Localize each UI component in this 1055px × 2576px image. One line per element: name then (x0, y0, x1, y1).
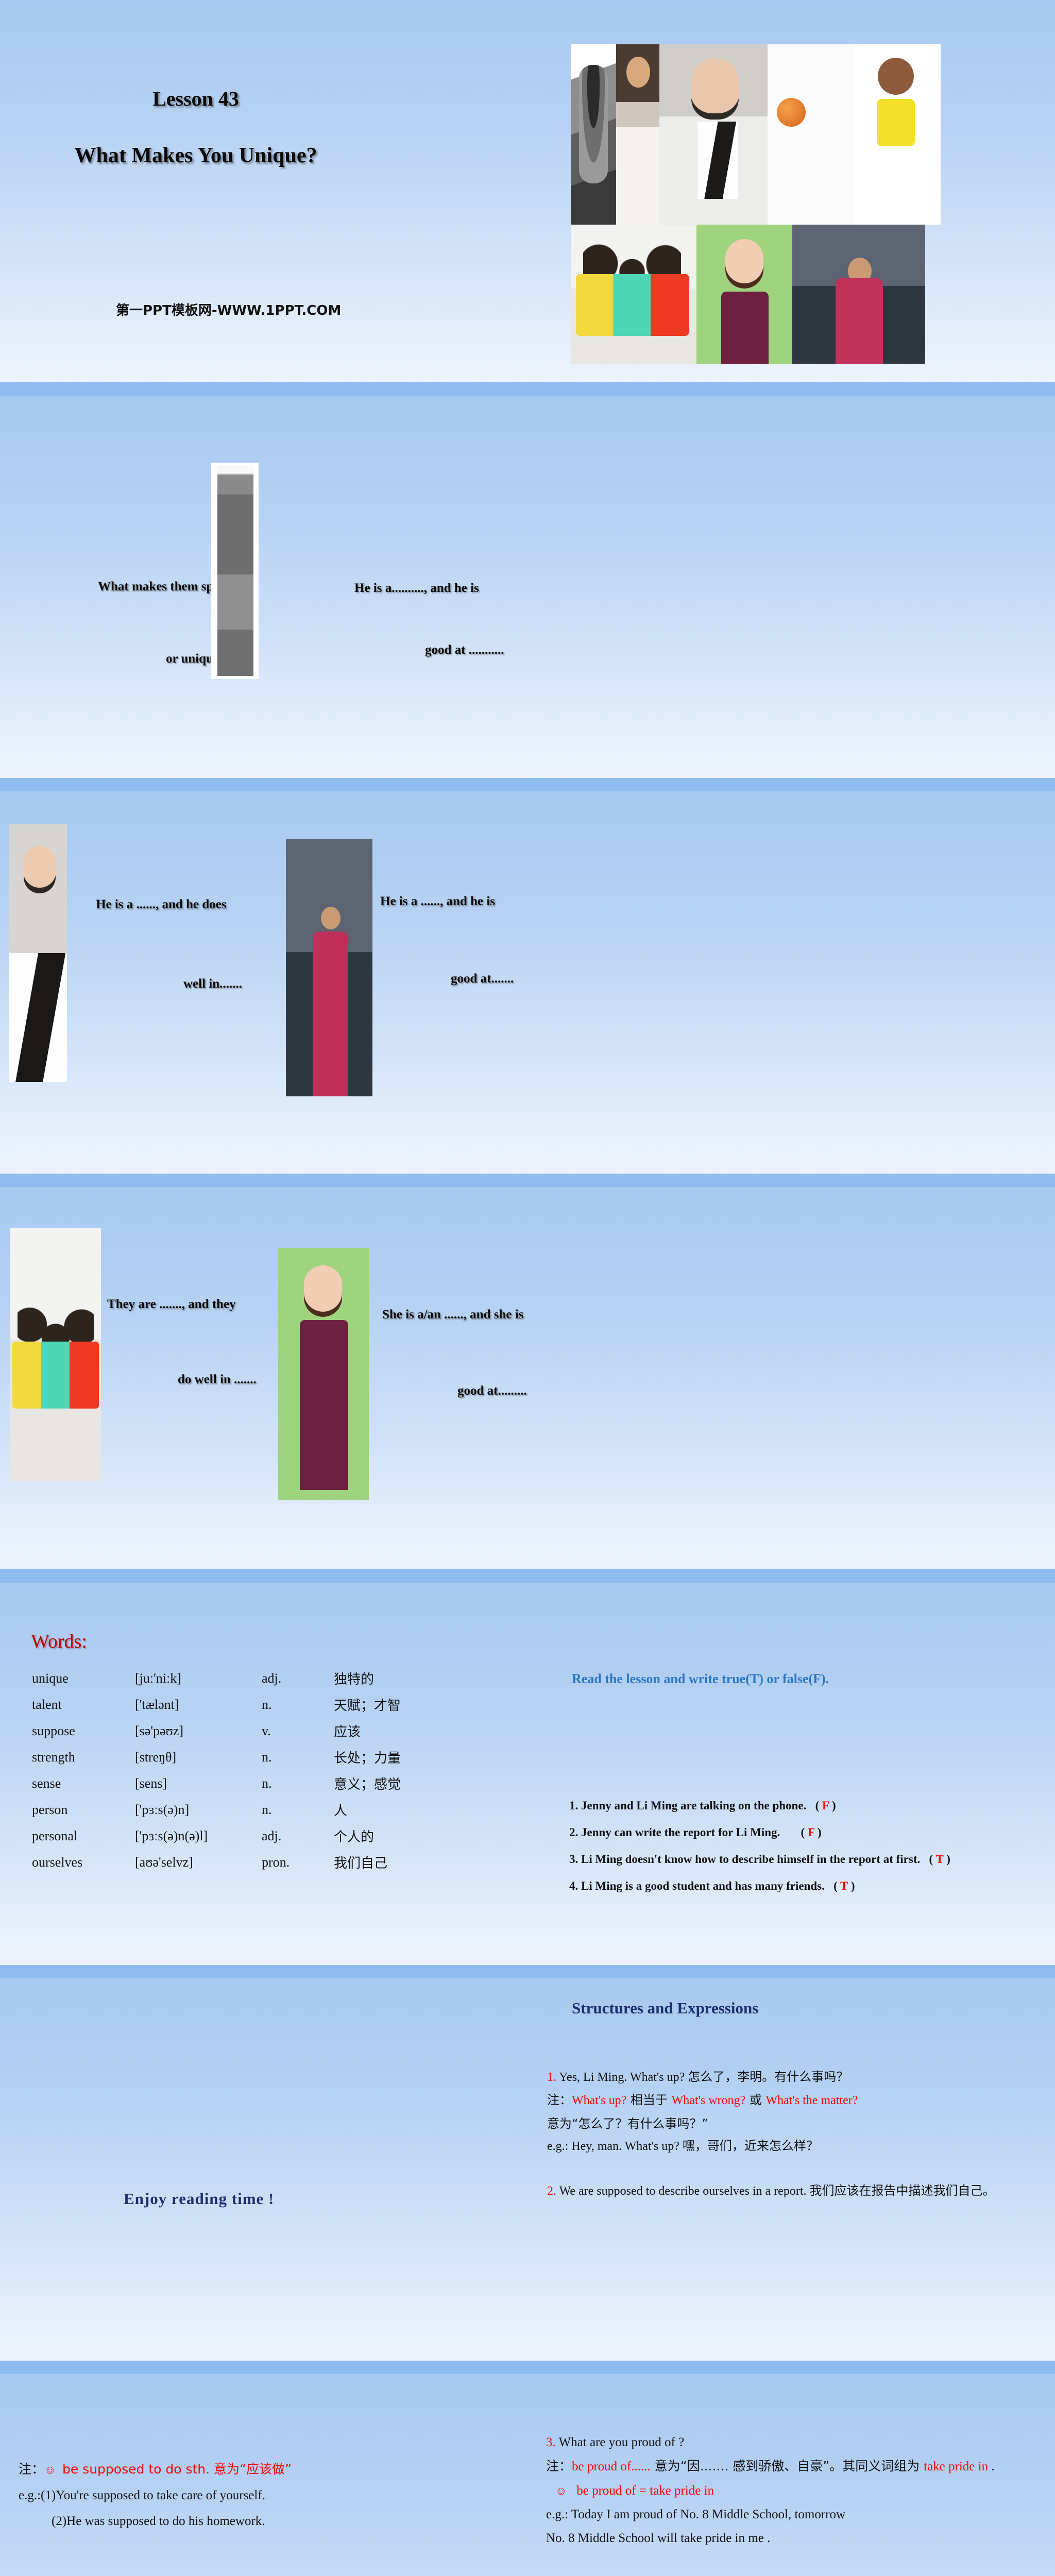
list-item: 3. Li Ming doesn't know how to describe … (569, 1852, 1028, 1867)
structures-heading: Structures and Expressions (572, 1999, 758, 2018)
phonetic-cell: ['pɜːs(ə)n(ə)l] (135, 1823, 262, 1849)
tf-question-text: 4. Li Ming is a good student and has man… (569, 1879, 825, 1892)
tf-question-text: 1. Jenny and Li Ming are talking on the … (569, 1799, 806, 1812)
word-cell: suppose (32, 1718, 135, 1744)
note-phrase-b: What's wrong? (672, 2094, 746, 2107)
celebrity-photo-grid (571, 44, 1028, 364)
smiley-icon: ☺ (44, 2463, 56, 2476)
spacer (547, 2158, 1042, 2180)
tf-question-text: 2. Jenny can write the report for Li Min… (569, 1826, 780, 1839)
item-number: 2. (547, 2184, 556, 2198)
tfboys-photo (571, 225, 696, 364)
note-cn-1: 意为“因....... 感到骄傲、自豪”。其同义词组为 (651, 2459, 924, 2473)
meaning-cell: 长处；力量 (334, 1744, 401, 1770)
be-supposed-to-block: 注：☺ be supposed to do sth. 意为“应该做” e.g.:… (19, 2456, 513, 2534)
pos-cell: adj. (262, 1823, 334, 1849)
example-1: e.g.:(1)You're supposed to take care of … (19, 2483, 513, 2509)
structure-item-1-note: 注：What's up? 相当于 What's wrong? 或 What's … (547, 2089, 1042, 2112)
word-cell: talent (32, 1691, 135, 1718)
example-line-1: e.g.: Today I am proud of No. 8 Middle S… (546, 2503, 1051, 2527)
note-mid-1: 相当于 (626, 2093, 671, 2107)
chinese-actress-photo (696, 225, 792, 364)
item-text: Yes, Li Ming. What's up? 怎么了，李明。有什么事吗？ (559, 2071, 848, 2084)
word-cell: sense (32, 1770, 135, 1797)
table-row: sense [sens] n. 意义；感觉 (32, 1770, 401, 1797)
slide-footer-bar (0, 1569, 1055, 1583)
item-number: 3. (546, 2435, 556, 2449)
vocabulary-table: unique [juː'niːk] adj. 独特的 talent ['tælə… (32, 1665, 401, 1875)
pos-cell: n. (262, 1691, 334, 1718)
yao-ming-photo (768, 44, 853, 225)
list-item: 4. Li Ming is a good student and has man… (569, 1878, 1028, 1894)
cristiano-ronaldo-photo (792, 225, 925, 364)
equivalence-text: be proud of = take pride in (576, 2484, 714, 2498)
note-red-1: be proud of...... (572, 2460, 651, 2473)
meaning-cell: 个人的 (334, 1823, 401, 1849)
table-row: unique [juː'niːk] adj. 独特的 (32, 1665, 401, 1691)
phonetic-cell: [aʊə'selvz] (135, 1849, 262, 1875)
list-item: 1. Jenny and Li Ming are talking on the … (569, 1798, 1028, 1814)
note-red-text: be supposed to do sth. 意为“应该做” (62, 2462, 292, 2477)
word-cell: person (32, 1797, 135, 1823)
question-3: 3. What are you proud of ? (546, 2431, 1051, 2454)
pos-cell: n. (262, 1797, 334, 1823)
pos-cell: pron. (262, 1849, 334, 1875)
phonetic-cell: ['pɜːs(ə)n] (135, 1797, 262, 1823)
slide-words-and-truefalse: Words: unique [juː'niːk] adj. 独特的 talent… (0, 1583, 1055, 1978)
table-row: suppose [sə'pəʊz] v. 应该 (32, 1718, 401, 1744)
pos-cell: adj. (262, 1665, 334, 1691)
slide-footer-bar (0, 2361, 1055, 2374)
cristiano-ronaldo-photo (286, 839, 372, 1096)
phonetic-cell: [sə'pəʊz] (135, 1718, 262, 1744)
note-phrase-c: What's the matter? (765, 2094, 858, 2107)
note-tail: . (988, 2460, 995, 2473)
smiley-icon: ☺ (555, 2484, 567, 2497)
question-3-note: 注：be proud of...... 意为“因....... 感到骄傲、自豪”… (546, 2454, 1051, 2479)
right-caption-line-2: good at....... (451, 971, 514, 987)
pos-cell: n. (262, 1770, 334, 1797)
right-caption-line-1: She is a/an ......, and she is (382, 1307, 523, 1323)
structure-item-2: 2. We are supposed to describe ourselves… (547, 2180, 1042, 2202)
proud-of-block: 3. What are you proud of ? 注：be proud of… (546, 2431, 1051, 2550)
slide-he-is-a-singer-footballer: He is a ......, and he does well in.....… (0, 791, 1055, 1187)
left-caption-line-2: do well in ....... (178, 1371, 257, 1387)
meaning-cell: 我们自己 (334, 1849, 401, 1875)
left-caption-line-2: well in....... (183, 976, 242, 992)
watermark-text: 第一PPT模板网-WWW.1PPT.COM (116, 300, 341, 319)
slide-structures-and-expressions: Enjoy reading time ! Structures and Expr… (0, 1978, 1055, 2374)
left-caption-line-1: They are ......., and they (107, 1296, 236, 1312)
meaning-cell: 独特的 (334, 1665, 401, 1691)
slide-footer-bar (0, 778, 1055, 791)
tf-answer: F (808, 1826, 814, 1839)
slide-footer-bar (0, 382, 1055, 396)
true-false-list: 1. Jenny and Li Ming are talking on the … (569, 1798, 1028, 1905)
note-prefix: 注： (547, 2093, 572, 2107)
note-prefix: 注： (546, 2459, 572, 2473)
page-title: Lesson 43 (72, 87, 319, 111)
right-caption-line-2: good at......... (457, 1383, 527, 1399)
table-row: person ['pɜːs(ə)n] n. 人 (32, 1797, 401, 1823)
equivalence-line: ☺ be proud of = take pride in (546, 2479, 1051, 2503)
word-cell: unique (32, 1665, 135, 1691)
word-cell: personal (32, 1823, 135, 1849)
korean-singer-photo (9, 824, 67, 1082)
item-number: 1. (547, 2071, 556, 2084)
tf-answer: T (840, 1879, 848, 1892)
note-mid-2: 或 (745, 2093, 765, 2107)
note-line: 注：☺ be supposed to do sth. 意为“应该做” (19, 2456, 513, 2483)
photo-row-top (571, 44, 1028, 225)
note-red-2: take pride in (924, 2460, 988, 2473)
structure-item-1-example: e.g.: Hey, man. What's up? 嘿，哥们，近来怎么样？ (547, 2135, 1042, 2158)
note-tail: 意为“怎么了？有什么事吗？” (547, 2112, 1042, 2135)
caption-line-1: He is a.........., and he is (354, 580, 479, 596)
words-heading: Words: (31, 1630, 87, 1653)
slide-footer-bar (0, 1965, 1055, 1978)
structures-body: 1. Yes, Li Ming. What's up? 怎么了，李明。有什么事吗… (547, 2066, 1042, 2202)
list-item: 2. Jenny can write the report for Li Min… (569, 1825, 1028, 1840)
slide-title: Lesson 43 What Makes You Unique? 第一PPT模板… (0, 0, 1055, 396)
example-line-2: No. 8 Middle School will take pride in m… (546, 2527, 1051, 2550)
phonetic-cell: [streŋθ] (135, 1744, 262, 1770)
word-cell: strength (32, 1744, 135, 1770)
item-text: We are supposed to describe ourselves in… (559, 2184, 995, 2198)
caption-line-2: good at ........... (425, 642, 504, 658)
example-2: (2)He was supposed to do his homework. (19, 2509, 513, 2534)
item-text: What are you proud of ? (559, 2435, 685, 2449)
structure-item-1: 1. Yes, Li Ming. What's up? 怎么了，李明。有什么事吗… (547, 2066, 1042, 2089)
table-row: ourselves [aʊə'selvz] pron. 我们自己 (32, 1849, 401, 1875)
phonetic-cell: [juː'niːk] (135, 1665, 262, 1691)
ronaldo-cartoon-photo (853, 44, 941, 225)
true-false-heading: Read the lesson and write true(T) or fal… (572, 1671, 829, 1687)
word-cell: ourselves (32, 1849, 135, 1875)
slide-be-supposed-to-and-proud-of: 注：☺ be supposed to do sth. 意为“应该做” e.g.:… (0, 2374, 1055, 2576)
tfboys-photo (10, 1228, 101, 1481)
table-row: personal ['pɜːs(ə)n(ə)l] adj. 个人的 (32, 1823, 401, 1849)
meaning-cell: 人 (334, 1797, 401, 1823)
note-phrase-a: What's up? (572, 2094, 626, 2107)
meaning-cell: 天赋；才智 (334, 1691, 401, 1718)
michael-jordan-photo (571, 44, 616, 225)
slide-footer-bar (0, 1174, 1055, 1187)
phonetic-cell: [sens] (135, 1770, 262, 1797)
pos-cell: n. (262, 1744, 334, 1770)
page-subtitle: What Makes You Unique? (57, 143, 335, 168)
michael-jordan-photo (211, 463, 259, 679)
table-row: talent ['tælənt] n. 天赋；才智 (32, 1691, 401, 1718)
tf-answer: T (936, 1853, 944, 1866)
tf-question-text: 3. Li Ming doesn't know how to describe … (569, 1853, 920, 1866)
pos-cell: v. (262, 1718, 334, 1744)
meaning-cell: 应该 (334, 1718, 401, 1744)
slide-deck: Lesson 43 What Makes You Unique? 第一PPT模板… (0, 0, 1055, 2576)
photo-row-bottom (571, 225, 1028, 364)
slide-they-are-she-is: They are ......., and they do well in ..… (0, 1187, 1055, 1583)
tf-answer: F (822, 1799, 829, 1812)
chinese-actress-photo (278, 1248, 369, 1500)
table-row: strength [streŋθ] n. 长处；力量 (32, 1744, 401, 1770)
note-prefix: 注： (19, 2462, 44, 2477)
korean-singer-photo (659, 44, 768, 225)
phonetic-cell: ['tælənt] (135, 1691, 262, 1718)
right-caption-line-1: He is a ......, and he is (380, 893, 495, 909)
enjoy-reading-time-heading: Enjoy reading time ! (124, 2190, 274, 2208)
left-caption-line-1: He is a ......, and he does (96, 896, 227, 912)
jackie-chan-photo (616, 44, 659, 225)
meaning-cell: 意义；感觉 (334, 1770, 401, 1797)
slide-what-makes-them-special: What makes them special or unique ? He i… (0, 396, 1055, 791)
